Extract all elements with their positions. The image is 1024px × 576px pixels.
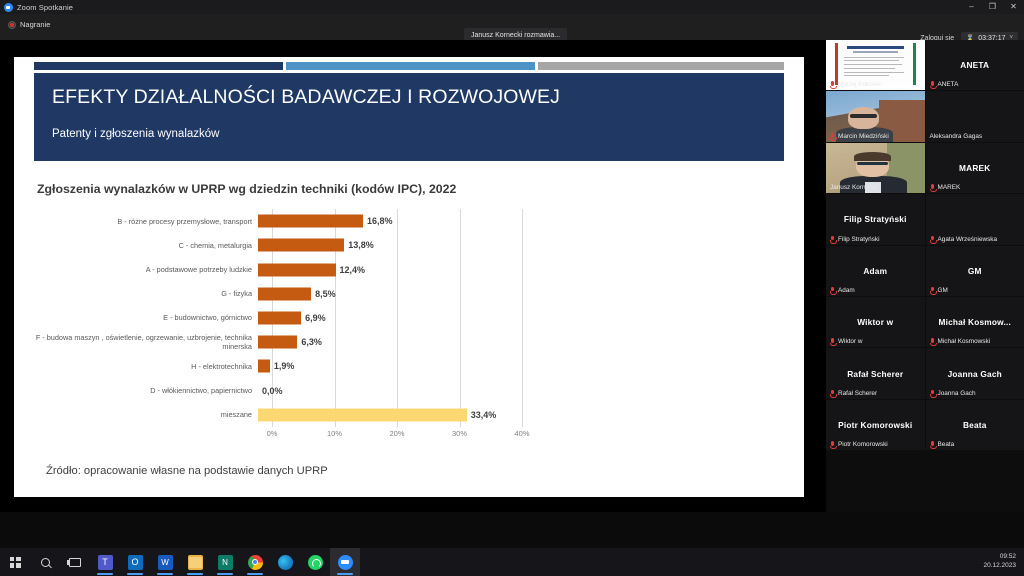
mic-muted-icon <box>930 338 935 345</box>
participant-name-bar: Filip Stratyński <box>826 234 884 245</box>
chart-row: G - fizyka8,5% <box>28 282 508 306</box>
participant-name: Rafał Scherer <box>838 390 877 397</box>
participant-name: Adam <box>838 287 855 294</box>
slide-accent-bars <box>34 62 784 70</box>
taskbar-clock[interactable]: 09:52 20.12.2023 <box>983 553 1016 571</box>
participant-name: Beata <box>938 441 955 448</box>
participant-name: MAREK <box>938 184 961 191</box>
chart-value-label: 6,9% <box>305 313 326 323</box>
participant-tile[interactable]: MAREKMAREK <box>926 143 1024 193</box>
zoom-meeting-window: Zoom Spotkanie – ❐ ✕ Nagranie Janusz Kor… <box>0 0 1024 576</box>
recording-indicator[interactable]: Nagranie <box>8 20 50 29</box>
participant-name: Marcin Miedziński <box>838 133 889 140</box>
chart-category-label: C - chemia, metalurgia <box>28 241 258 250</box>
onenote-icon[interactable] <box>210 548 240 576</box>
chart-bar <box>258 360 270 373</box>
chart-bar <box>258 408 467 421</box>
close-button[interactable]: ✕ <box>1003 0 1024 14</box>
chart-plot-cell: 33,4% <box>258 403 508 427</box>
onenote-icon-glyph <box>218 555 233 570</box>
participant-name-bar: Maciej Kokotek <box>826 79 885 90</box>
edge-icon-glyph <box>278 555 293 570</box>
chart-row: F - budowa maszyn , oświetlenie, ogrzewa… <box>28 330 508 354</box>
chrome-icon[interactable] <box>240 548 270 576</box>
participant-name-bar: Aleksandra Gagas <box>926 131 987 142</box>
participant-name-bar: Joanna Gach <box>926 388 980 399</box>
participant-name-bar: MAREK <box>926 182 965 193</box>
participant-name: ANETA <box>938 81 959 88</box>
participant-name-bar: Janusz Kornecki <box>826 182 881 193</box>
x-axis-tick: 30% <box>452 429 467 438</box>
chart-value-label: 12,4% <box>340 265 366 275</box>
outlook-icon[interactable] <box>120 548 150 576</box>
chart-plot-cell: 6,3% <box>258 330 508 354</box>
chart-row: C - chemia, metalurgia13,8% <box>28 233 508 257</box>
chart-row: B - różne procesy przemysłowe, transport… <box>28 209 508 233</box>
window-controls: – ❐ ✕ <box>961 0 1024 14</box>
mic-muted-icon <box>930 81 935 88</box>
chart-plot-cell: 1,9% <box>258 354 508 378</box>
chart-value-label: 6,3% <box>301 337 322 347</box>
chart-plot-cell: 8,5% <box>258 282 508 306</box>
chart-row: D - włókiennictwo, papiernictwo0,0% <box>28 379 508 403</box>
windows-taskbar: 09:52 20.12.2023 <box>0 548 1024 576</box>
participant-name: Agata Wrześniewska <box>938 236 998 243</box>
accent-bar-blue <box>286 62 535 70</box>
recording-label: Nagranie <box>20 20 50 29</box>
shared-screen-stage: EFEKTY DZIAŁALNOŚCI BADAWCZEJ I ROZWOJOW… <box>0 40 826 512</box>
participant-name-bar: Wiktor w <box>826 336 867 347</box>
participant-name-bar: ANETA <box>926 79 963 90</box>
presentation-slide: EFEKTY DZIAŁALNOŚCI BADAWCZEJ I ROZWOJOW… <box>14 57 804 497</box>
participant-name-bar: Agata Wrześniewska <box>926 234 1002 245</box>
participant-tile[interactable]: Piotr KomorowskiPiotr Komorowski <box>826 400 925 450</box>
mic-muted-icon <box>930 390 935 397</box>
mic-muted-icon <box>930 236 935 243</box>
participant-name-bar: Adam <box>826 285 859 296</box>
chart-category-label: E - budownictwo, górnictwo <box>28 313 258 322</box>
slide-title: EFEKTY DZIAŁALNOŚCI BADAWCZEJ I ROZWOJOW… <box>52 87 784 108</box>
word-icon-glyph <box>158 555 173 570</box>
participant-name: Michał Kosmowski <box>938 338 991 345</box>
participant-tile[interactable]: Rafał SchererRafał Scherer <box>826 348 925 398</box>
slide-subtitle: Patenty i zgłoszenia wynalazków <box>52 128 784 140</box>
participant-name: Joanna Gach <box>938 390 976 397</box>
search-icon[interactable] <box>30 548 60 576</box>
clock-time: 09:52 <box>983 553 1016 562</box>
edge-icon[interactable] <box>270 548 300 576</box>
chart-category-label: G - fizyka <box>28 289 258 298</box>
participant-avatar-name: Joanna Gach <box>948 369 1002 379</box>
chart-row: A - podstawowe potrzeby ludzkie12,4% <box>28 257 508 281</box>
participant-avatar-name: Beata <box>963 420 987 430</box>
participant-tile[interactable]: AdamAdam <box>826 246 925 296</box>
participant-tile[interactable]: Filip StratyńskiFilip Stratyński <box>826 194 925 244</box>
chart-bar <box>258 263 336 276</box>
participant-avatar-name: Rafał Scherer <box>847 369 903 379</box>
chart-plot-cell: 16,8% <box>258 209 508 233</box>
participant-name: Maciej Kokotek <box>838 81 881 88</box>
participant-avatar-name: Piotr Komorowski <box>838 420 912 430</box>
participant-tile[interactable]: Michał Kosmow...Michał Kosmowski <box>926 297 1024 347</box>
x-axis-tick: 10% <box>327 429 342 438</box>
chart-plot-cell: 0,0% <box>258 379 508 403</box>
chart-x-axis: 0%10%20%30%40% <box>272 429 522 443</box>
whatsapp-icon[interactable] <box>300 548 330 576</box>
teams-icon-glyph <box>98 555 113 570</box>
chart-value-label: 13,8% <box>348 240 374 250</box>
file-explorer-icon[interactable] <box>180 548 210 576</box>
participant-avatar-name: Michał Kosmow... <box>938 317 1011 327</box>
chart-row: E - budownictwo, górnictwo6,9% <box>28 306 508 330</box>
zoom-icon[interactable] <box>330 548 360 576</box>
source-note: Źródło: opracowanie własne na podstawie … <box>46 465 328 477</box>
mic-muted-icon <box>930 441 935 448</box>
chart-bar <box>258 336 297 349</box>
accent-bar-navy <box>34 62 283 70</box>
participant-avatar-name: Filip Stratyński <box>844 214 907 224</box>
zoom-icon <box>4 3 13 12</box>
mic-muted-icon <box>830 390 835 397</box>
participant-name: Filip Stratyński <box>838 236 880 243</box>
chart-category-label: mieszane <box>28 410 258 419</box>
mic-muted-icon <box>930 184 935 191</box>
participant-name: Wiktor w <box>838 338 863 345</box>
participant-tile[interactable]: Janusz Kornecki <box>826 143 925 193</box>
chart-value-label: 16,8% <box>367 216 393 226</box>
window-title-bar: Zoom Spotkanie – ❐ ✕ <box>0 0 1024 14</box>
x-axis-tick: 0% <box>267 429 278 438</box>
chart-rows: B - różne procesy przemysłowe, transport… <box>28 209 508 427</box>
participant-tile[interactable]: Joanna GachJoanna Gach <box>926 348 1024 398</box>
mic-muted-icon <box>930 287 935 294</box>
participant-avatar-name: Adam <box>863 266 887 276</box>
x-axis-tick: 40% <box>514 429 529 438</box>
chart-value-label: 33,4% <box>471 410 497 420</box>
chart-plot-cell: 6,9% <box>258 306 508 330</box>
participant-tile[interactable]: GMGM <box>926 246 1024 296</box>
chart-plot-cell: 12,4% <box>258 257 508 281</box>
chart-category-label: A - podstawowe potrzeby ludzkie <box>28 265 258 274</box>
participant-name: Piotr Komorowski <box>838 441 888 448</box>
participant-tile[interactable]: BeataBeata <box>926 400 1024 450</box>
participant-tile[interactable]: ANETAANETA <box>926 40 1024 90</box>
chart-bar <box>258 215 363 228</box>
participant-tile[interactable]: Wiktor wWiktor w <box>826 297 925 347</box>
chart-bar <box>258 287 311 300</box>
chart-row: mieszane33,4% <box>28 403 508 427</box>
participant-name: Aleksandra Gagas <box>930 133 983 140</box>
mic-muted-icon <box>830 236 835 243</box>
file-explorer-icon-glyph <box>188 555 203 570</box>
participant-tile[interactable]: Maciej Kokotek <box>826 40 925 90</box>
participant-name-bar: Beata <box>926 439 959 450</box>
chart-value-label: 1,9% <box>274 361 295 371</box>
word-icon[interactable] <box>150 548 180 576</box>
chart-category-label: H - elektrotechnika <box>28 362 258 371</box>
window-title: Zoom Spotkanie <box>17 3 73 12</box>
participant-tile[interactable]: Agata Wrześniewska <box>926 194 1024 244</box>
chart-bar <box>258 239 344 252</box>
participant-name-bar: Michał Kosmowski <box>926 336 995 347</box>
clock-date: 20.12.2023 <box>983 562 1016 571</box>
task-view-glyph <box>69 558 81 567</box>
chart-bar <box>258 311 301 324</box>
participant-name-bar: Piotr Komorowski <box>826 439 892 450</box>
participant-name: GM <box>938 287 948 294</box>
participant-name: Janusz Kornecki <box>830 184 877 191</box>
chart-category-label: D - włókiennictwo, papiernictwo <box>28 386 258 395</box>
maximize-button[interactable]: ❐ <box>982 0 1003 14</box>
chart-value-label: 0,0% <box>262 386 283 396</box>
participant-tile[interactable]: Aleksandra Gagas <box>926 91 1024 141</box>
participant-name-bar: Rafał Scherer <box>826 388 881 399</box>
chart-plot-cell: 13,8% <box>258 233 508 257</box>
chart-row: H - elektrotechnika1,9% <box>28 354 508 378</box>
windows-start-glyph <box>10 557 21 568</box>
participant-avatar-name: MAREK <box>959 163 990 173</box>
zoom-icon-glyph <box>338 555 353 570</box>
participant-strip: Maciej KokotekANETAANETAMarcin Miedzińsk… <box>826 40 1024 512</box>
record-dot-icon <box>8 21 16 29</box>
mic-muted-icon <box>830 338 835 345</box>
mic-muted-icon <box>830 81 835 88</box>
zoom-toolbar: Nagranie Janusz Kornecki rozmawia... Zal… <box>0 14 1024 40</box>
bar-chart: B - różne procesy przemysłowe, transport… <box>28 209 508 457</box>
chart-category-label: B - różne procesy przemysłowe, transport <box>28 217 258 226</box>
slide-title-block: EFEKTY DZIAŁALNOŚCI BADAWCZEJ I ROZWOJOW… <box>34 73 784 161</box>
windows-start-icon[interactable] <box>0 548 30 576</box>
mic-muted-icon <box>830 441 835 448</box>
mic-muted-icon <box>830 287 835 294</box>
task-view-icon[interactable] <box>60 548 90 576</box>
chart-title: Zgłoszenia wynalazków w UPRP wg dziedzin… <box>37 182 777 196</box>
chart-category-label: F - budowa maszyn , oświetlenie, ogrzewa… <box>28 333 258 351</box>
participant-avatar-name: ANETA <box>960 60 989 70</box>
participant-name-bar: GM <box>926 285 952 296</box>
gridline <box>522 209 523 427</box>
participant-tile[interactable]: Marcin Miedziński <box>826 91 925 141</box>
accent-bar-gray <box>538 62 784 70</box>
outlook-icon-glyph <box>128 555 143 570</box>
teams-icon[interactable] <box>90 548 120 576</box>
mic-muted-icon <box>830 133 835 140</box>
chrome-icon-glyph <box>248 555 263 570</box>
chart-value-label: 8,5% <box>315 289 336 299</box>
whatsapp-icon-glyph <box>308 555 323 570</box>
x-axis-tick: 20% <box>389 429 404 438</box>
participant-avatar-name: GM <box>968 266 982 276</box>
minimize-button[interactable]: – <box>961 0 982 14</box>
search-glyph <box>41 558 50 567</box>
participant-avatar-name: Wiktor w <box>857 317 893 327</box>
participant-name-bar: Marcin Miedziński <box>826 131 893 142</box>
